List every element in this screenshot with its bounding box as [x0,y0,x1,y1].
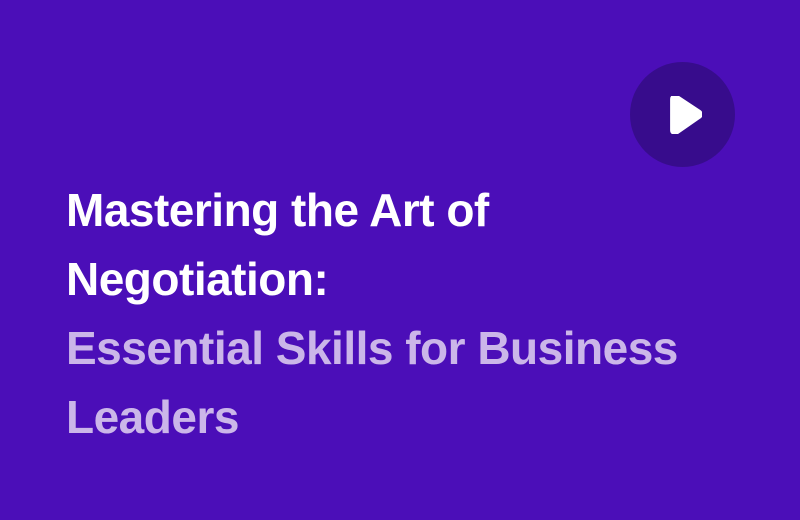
title-line-1: Mastering the Art of [66,176,766,245]
play-icon [668,96,702,134]
subtitle-line-1: Essential Skills for Business [66,314,766,383]
title-line-2: Negotiation: [66,245,766,314]
play-button[interactable] [630,62,735,167]
headline-block: Mastering the Art of Negotiation: Essent… [66,176,766,452]
subtitle-line-2: Leaders [66,383,766,452]
video-promo-card: Mastering the Art of Negotiation: Essent… [0,0,800,520]
